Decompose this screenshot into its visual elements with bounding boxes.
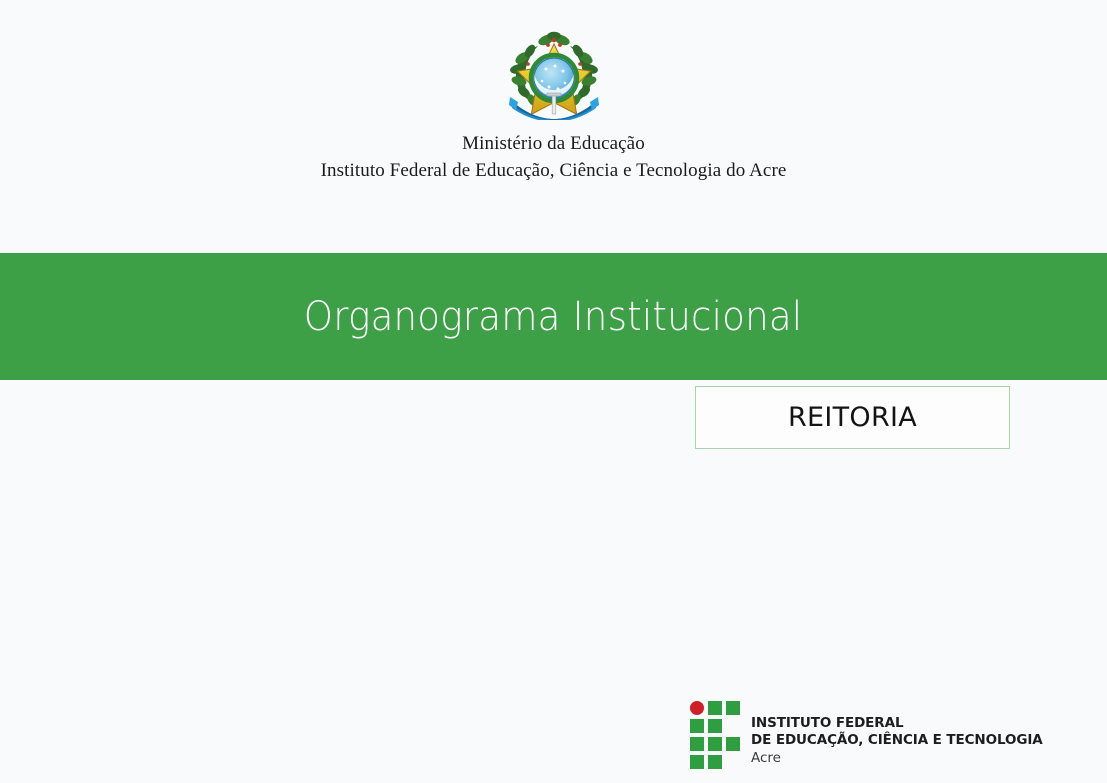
institute-line: Instituto Federal de Educação, Ciência e… bbox=[0, 157, 1107, 184]
brasao-republica-icon bbox=[508, 26, 600, 120]
brand-line-educacao-ciencia-tecnologia: DE EDUCAÇÃO, CIÊNCIA E TECNOLOGIA bbox=[751, 732, 1043, 749]
logo-square bbox=[708, 755, 722, 769]
ifac-grid-logo-icon bbox=[690, 701, 742, 769]
document-header: Ministério da Educação Instituto Federal… bbox=[0, 0, 1107, 253]
logo-dot bbox=[690, 701, 704, 715]
logo-square bbox=[726, 737, 740, 751]
header-text-block: Ministério da Educação Instituto Federal… bbox=[0, 130, 1107, 184]
logo-square bbox=[690, 737, 704, 751]
ifac-brand-footer: INSTITUTO FEDERAL DE EDUCAÇÃO, CIÊNCIA E… bbox=[690, 701, 1043, 769]
logo-square bbox=[690, 755, 704, 769]
logo-square bbox=[690, 719, 704, 733]
ifac-brand-text: INSTITUTO FEDERAL DE EDUCAÇÃO, CIÊNCIA E… bbox=[751, 701, 1043, 767]
title-banner: Organograma Institucional bbox=[0, 253, 1107, 380]
org-node-reitoria-label: REITORIA bbox=[788, 402, 917, 433]
page-title: Organograma Institucional bbox=[304, 294, 803, 340]
org-node-reitoria[interactable]: REITORIA bbox=[695, 386, 1010, 449]
brand-line-instituto-federal: INSTITUTO FEDERAL bbox=[751, 715, 1043, 732]
logo-square bbox=[708, 701, 722, 715]
brand-line-acre: Acre bbox=[751, 749, 1043, 767]
logo-square bbox=[708, 719, 722, 733]
logo-square bbox=[726, 701, 740, 715]
logo-square bbox=[708, 737, 722, 751]
ministry-line: Ministério da Educação bbox=[0, 130, 1107, 157]
